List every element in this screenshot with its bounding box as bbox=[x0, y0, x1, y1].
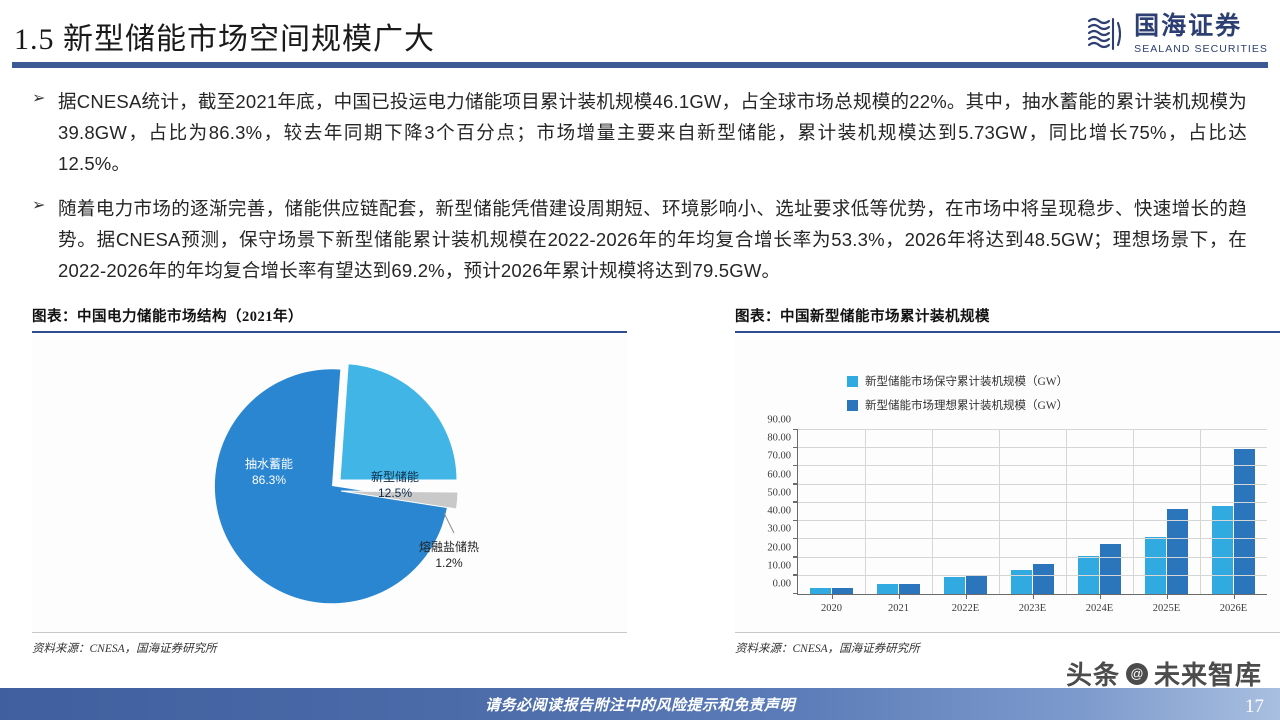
pie-leader-line bbox=[444, 513, 454, 533]
y-axis-tick-label: 90.00 bbox=[767, 415, 791, 426]
y-axis-tick-label: 10.00 bbox=[767, 560, 791, 571]
y-axis-tick-label: 20.00 bbox=[767, 542, 791, 553]
x-axis-tick-label: 2024E bbox=[1086, 603, 1113, 614]
y-axis-tickmark bbox=[793, 574, 798, 576]
x-axis-tickmark bbox=[1167, 594, 1169, 599]
bar bbox=[966, 576, 987, 594]
right-chart-panel: 图表：中国新型储能市场累计装机规模 新型储能市场保守累计装机规模（GW）新型储能… bbox=[735, 305, 1280, 680]
right-chart-body: 新型储能市场保守累计装机规模（GW）新型储能市场理想累计装机规模（GW） 202… bbox=[735, 333, 1280, 633]
watermark-at-icon: @ bbox=[1126, 663, 1148, 685]
vertical-gridline bbox=[1133, 430, 1134, 594]
legend-swatch-icon bbox=[847, 400, 858, 411]
bar-group: 2020 bbox=[798, 430, 865, 594]
logo-text-cn: 国海证券 bbox=[1134, 14, 1242, 39]
sealand-wave-mark-icon bbox=[1085, 14, 1125, 54]
y-axis-tick-label: 60.00 bbox=[767, 469, 791, 480]
legend-item: 新型储能市场理想累计装机规模（GW） bbox=[847, 397, 1068, 413]
bar bbox=[1011, 570, 1032, 594]
x-axis-tickmark bbox=[832, 594, 834, 599]
pie-chart: 抽水蓄能 86.3% 新型储能 12.5% 熔融盐储热 1.2% bbox=[182, 361, 482, 611]
gridline bbox=[798, 429, 1267, 430]
gridline bbox=[798, 465, 1267, 466]
vertical-gridline bbox=[865, 430, 866, 594]
bullet-arrow-icon: ➢ bbox=[32, 86, 58, 179]
watermark-text: 未来智库 bbox=[1154, 655, 1262, 692]
x-axis-tick-label: 2025E bbox=[1153, 603, 1180, 614]
bar bbox=[1100, 544, 1121, 594]
watermark: 头条 @ 未来智库 bbox=[1066, 655, 1262, 692]
y-axis-tick-label: 70.00 bbox=[767, 451, 791, 462]
y-axis-tickmark bbox=[793, 556, 798, 558]
company-logo: 国海证券 SEALAND SECURITIES bbox=[1085, 14, 1268, 55]
bar-group: 2025E bbox=[1133, 430, 1200, 594]
bar-chart-plot-area: 202020212022E2023E2024E2025E2026E 0.0010… bbox=[797, 430, 1267, 595]
bar-group: 2026E bbox=[1200, 430, 1267, 594]
right-chart-source: 资料来源：CNESA，国海证券研究所 bbox=[735, 633, 1280, 656]
x-axis-tickmark bbox=[966, 594, 968, 599]
pie-label-value: 12.5% bbox=[360, 485, 430, 501]
body-bullet-list: ➢ 据CNESA统计，截至2021年底，中国已投运电力储能项目累计装机规模46.… bbox=[32, 86, 1247, 300]
pie-label-value: 86.3% bbox=[232, 472, 306, 488]
y-axis-tickmark bbox=[793, 447, 798, 449]
bullet-item: ➢ 据CNESA统计，截至2021年底，中国已投运电力储能项目累计装机规模46.… bbox=[32, 86, 1247, 179]
bar-group: 2024E bbox=[1066, 430, 1133, 594]
gridline bbox=[798, 447, 1267, 448]
bar bbox=[1234, 449, 1255, 594]
bar bbox=[1212, 506, 1233, 594]
bar bbox=[1033, 564, 1054, 594]
logo-text-en: SEALAND SECURITIES bbox=[1134, 44, 1268, 55]
vertical-gridline bbox=[1066, 430, 1067, 594]
pie-label-pumped-hydro: 抽水蓄能 86.3% bbox=[232, 456, 306, 488]
x-axis-tick-label: 2020 bbox=[821, 603, 842, 614]
y-axis-tick-label: 30.00 bbox=[767, 524, 791, 535]
watermark-prefix: 头条 bbox=[1066, 655, 1120, 692]
pie-label-new-energy-storage: 新型储能 12.5% bbox=[360, 469, 430, 501]
x-axis-tick-label: 2021 bbox=[888, 603, 909, 614]
bullet-item: ➢ 随着电力市场的逐渐完善，储能供应链配套，新型储能凭借建设周期短、环境影响小、… bbox=[32, 193, 1247, 286]
x-axis-tick-label: 2022E bbox=[952, 603, 979, 614]
legend-item: 新型储能市场保守累计装机规模（GW） bbox=[847, 373, 1068, 389]
gridline bbox=[798, 557, 1267, 558]
pie-chart-svg bbox=[182, 361, 482, 611]
left-chart-panel: 图表：中国电力储能市场结构（2021年） 抽水蓄能 86.3% bbox=[32, 305, 627, 680]
pie-label-name: 抽水蓄能 bbox=[232, 456, 306, 472]
pie-label-name: 熔融盐储热 bbox=[404, 539, 494, 555]
y-axis-tickmark bbox=[793, 483, 798, 485]
x-axis-tickmark bbox=[899, 594, 901, 599]
bar-chart: 新型储能市场保守累计装机规模（GW）新型储能市场理想累计装机规模（GW） 202… bbox=[735, 333, 1280, 633]
gridline bbox=[798, 484, 1267, 485]
bar-group: 2023E bbox=[999, 430, 1066, 594]
title-underline-tail bbox=[1062, 62, 1268, 68]
gridline bbox=[798, 538, 1267, 539]
page-title: 1.5 新型储能市场空间规模广大 bbox=[14, 14, 435, 58]
bar bbox=[899, 584, 920, 594]
vertical-gridline bbox=[999, 430, 1000, 594]
bar bbox=[877, 584, 898, 594]
y-axis-tickmark bbox=[793, 501, 798, 503]
bullet-arrow-icon: ➢ bbox=[32, 193, 58, 286]
vertical-gridline bbox=[932, 430, 933, 594]
left-chart-source: 资料来源：CNESA，国海证券研究所 bbox=[32, 633, 627, 656]
bar bbox=[810, 588, 831, 594]
y-axis-tick-label: 80.00 bbox=[767, 433, 791, 444]
bar-groups: 202020212022E2023E2024E2025E2026E bbox=[798, 430, 1267, 594]
bullet-paragraph-1: 据CNESA统计，截至2021年底，中国已投运电力储能项目累计装机规模46.1G… bbox=[58, 86, 1247, 179]
bar bbox=[1145, 537, 1166, 594]
x-axis-tickmark bbox=[1033, 594, 1035, 599]
gridline bbox=[798, 502, 1267, 503]
right-chart-caption: 图表：中国新型储能市场累计装机规模 bbox=[735, 305, 1280, 331]
y-axis-tick-label: 50.00 bbox=[767, 487, 791, 498]
x-axis-tickmark bbox=[1100, 594, 1102, 599]
y-axis-tick-label: 0.00 bbox=[773, 579, 791, 590]
pie-slice-new-energy-storage bbox=[340, 364, 457, 480]
legend-swatch-icon bbox=[847, 376, 858, 387]
x-axis-tick-label: 2023E bbox=[1019, 603, 1046, 614]
bar-chart-legend: 新型储能市场保守累计装机规模（GW）新型储能市场理想累计装机规模（GW） bbox=[847, 373, 1068, 421]
footer-bar: 请务必阅读报告附注中的风险提示和免责声明 17 bbox=[0, 688, 1280, 720]
bullet-paragraph-2: 随着电力市场的逐渐完善，储能供应链配套，新型储能凭借建设周期短、环境影响小、选址… bbox=[58, 193, 1247, 286]
slide-root: 1.5 新型储能市场空间规模广大 国海证券 bbox=[0, 0, 1280, 720]
y-axis-tickmark bbox=[793, 429, 798, 431]
y-axis-tickmark bbox=[793, 520, 798, 522]
gridline bbox=[798, 575, 1267, 576]
vertical-gridline bbox=[1200, 430, 1201, 594]
left-chart-caption: 图表：中国电力储能市场结构（2021年） bbox=[32, 305, 627, 331]
page-number: 17 bbox=[1245, 696, 1264, 718]
y-axis-tickmark bbox=[793, 538, 798, 540]
gridline bbox=[798, 520, 1267, 521]
y-axis-tickmark bbox=[793, 593, 798, 595]
pie-label-molten-salt: 熔融盐储热 1.2% bbox=[404, 539, 494, 571]
pie-label-value: 1.2% bbox=[404, 555, 494, 571]
bar bbox=[1167, 509, 1188, 594]
legend-label: 新型储能市场理想累计装机规模（GW） bbox=[865, 397, 1068, 413]
bar-group: 2022E bbox=[932, 430, 999, 594]
bar bbox=[944, 577, 965, 594]
footer-disclaimer: 请务必阅读报告附注中的风险提示和免责声明 bbox=[485, 694, 795, 715]
x-axis-tickmark bbox=[1234, 594, 1236, 599]
slide-header: 1.5 新型储能市场空间规模广大 国海证券 bbox=[0, 0, 1280, 72]
bar bbox=[832, 588, 853, 594]
y-axis-tickmark bbox=[793, 465, 798, 467]
title-underline bbox=[12, 62, 1062, 68]
legend-label: 新型储能市场保守累计装机规模（GW） bbox=[865, 373, 1068, 389]
y-axis-tick-label: 40.00 bbox=[767, 506, 791, 517]
left-chart-body: 抽水蓄能 86.3% 新型储能 12.5% 熔融盐储热 1.2% bbox=[32, 333, 627, 633]
pie-label-name: 新型储能 bbox=[360, 469, 430, 485]
bar-group: 2021 bbox=[865, 430, 932, 594]
x-axis-tick-label: 2026E bbox=[1220, 603, 1247, 614]
